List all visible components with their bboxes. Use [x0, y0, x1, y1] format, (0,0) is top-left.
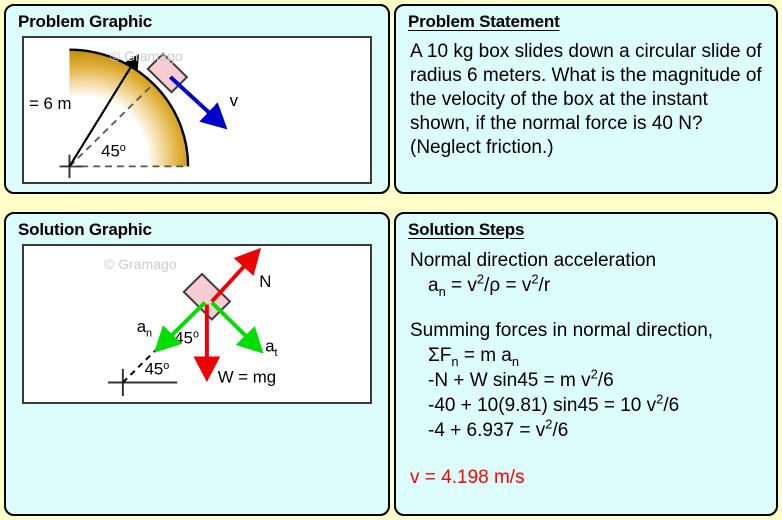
- panel-title-solution-steps: Solution Steps: [408, 220, 524, 240]
- solution-figure-box: 45o 45o N W = mg an at: [22, 244, 372, 404]
- panel-title-solution-graphic: Solution Graphic: [18, 220, 152, 240]
- weight-label: W = mg: [218, 368, 276, 387]
- tangential-accel-arrow: [212, 303, 252, 342]
- step-gap: [410, 298, 770, 318]
- panel-solution-graphic: Solution Graphic: [4, 212, 390, 516]
- problem-diagram-svg: r = 6 m 45o v: [24, 38, 370, 182]
- radius-label: r = 6 m: [24, 94, 71, 113]
- normal-accel-label: an: [137, 317, 152, 340]
- solution-diagram-svg: 45o 45o N W = mg an at: [24, 246, 370, 402]
- step-line-heading2: Summing forces in normal direction,: [410, 318, 770, 343]
- normal-force-label: N: [259, 272, 271, 291]
- solution-steps-body: Normal direction accelerationan = v2/ρ =…: [410, 248, 770, 490]
- normal-force-arrow: [212, 261, 250, 302]
- slide-page: Problem Graphic: [0, 0, 782, 520]
- problem-statement-text: A 10 kg box slides down a circular slide…: [410, 40, 766, 160]
- step-line-eq3: -N + W sin45 = m v2/6: [410, 368, 770, 393]
- panel-solution-steps: Solution Steps Normal direction accelera…: [394, 212, 778, 516]
- origin-marker-solution: [108, 369, 177, 396]
- step-line-eq5: -4 + 6.937 = v2/6: [410, 418, 770, 443]
- step-line-eq4: -40 + 10(9.81) sin45 = 10 v2/6: [410, 393, 770, 418]
- panel-title-problem-graphic: Problem Graphic: [18, 12, 152, 32]
- panel-title-problem-statement: Problem Statement: [408, 12, 560, 32]
- angle-label-45-lower: 45o: [145, 360, 170, 379]
- velocity-arrow: [170, 77, 214, 118]
- panel-problem-statement: Problem Statement A 10 kg box slides dow…: [394, 4, 778, 194]
- step-line-eq1: an = v2/ρ = v2/r: [410, 273, 770, 298]
- step-gap: [410, 443, 770, 463]
- velocity-label: v: [230, 91, 239, 110]
- step-line-heading1: Normal direction acceleration: [410, 248, 770, 273]
- panel-problem-graphic: Problem Graphic: [4, 4, 390, 194]
- tangential-accel-label: at: [265, 336, 277, 359]
- problem-figure-box: r = 6 m 45o v © Gramago: [22, 36, 372, 184]
- final-answer: v = 4.198 m/s: [410, 463, 770, 490]
- step-line-eq2: ΣFn = m an: [410, 343, 770, 368]
